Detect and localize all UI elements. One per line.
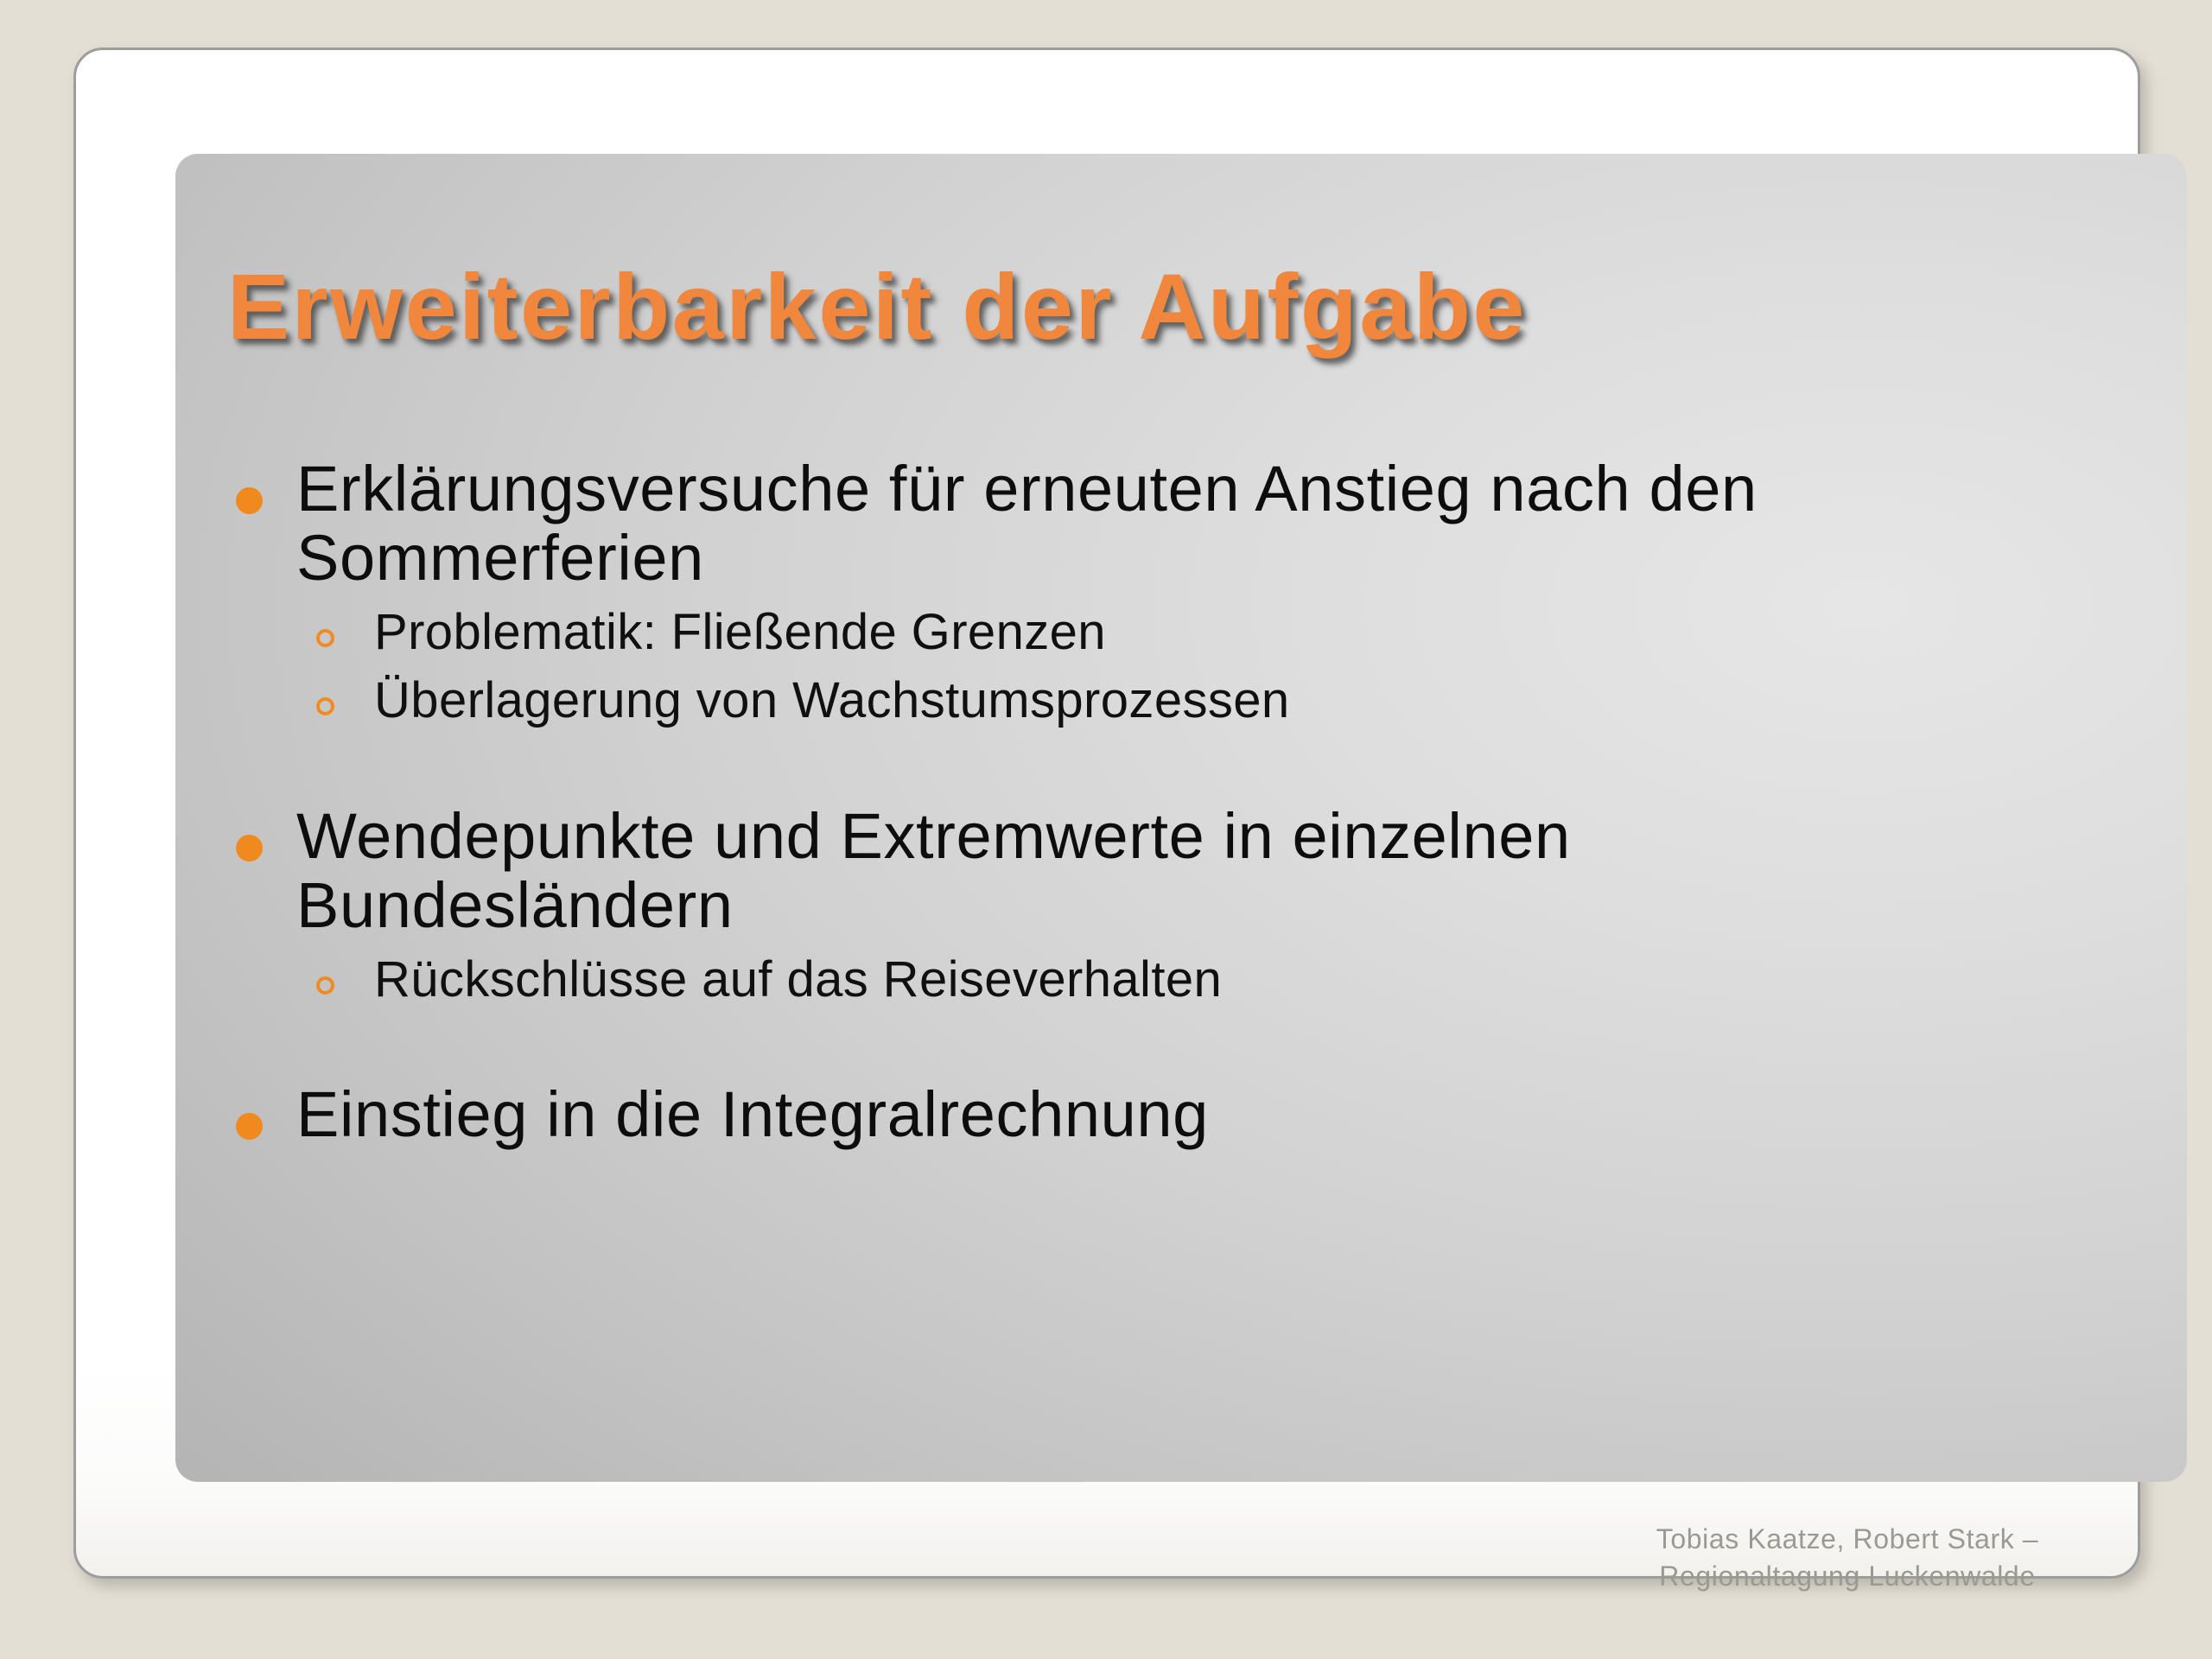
bullet-subitem-label: Rückschlüsse auf das Reiseverhalten — [374, 952, 2128, 1008]
bullet-ring-icon — [316, 976, 334, 995]
bullet-item-level1: Erklärungsversuche für erneuten Anstieg … — [227, 454, 2128, 593]
bullet-ring-icon — [316, 697, 334, 715]
bullet-block: Einstieg in die Integralrechnung — [227, 1080, 2128, 1149]
bullet-item-level1: Einstieg in die Integralrechnung — [227, 1080, 2128, 1149]
bullet-block: Erklärungsversuche für erneuten Anstieg … — [227, 454, 2128, 729]
footer-authors: Tobias Kaatze, Robert Stark – — [1571, 1521, 2124, 1558]
bullet-dot-icon — [236, 1113, 263, 1140]
bullet-dot-icon — [236, 835, 263, 861]
slide-frame: Erweiterbarkeit der Aufgabe Erklärungsve… — [73, 48, 2140, 1579]
bullet-block: Wendepunkte und Extremwerte in einzelnen… — [227, 802, 2128, 1008]
page-title: Erweiterbarkeit der Aufgabe — [227, 252, 1527, 360]
bullet-subitem-label: Überlagerung von Wachstumsprozessen — [374, 673, 2128, 729]
bullet-item-level2: Rückschlüsse auf das Reiseverhalten — [227, 952, 2128, 1008]
footer-event: Regionaltagung Luckenwalde — [1571, 1558, 2124, 1595]
bullet-ring-icon — [316, 629, 334, 647]
bullet-dot-icon — [236, 487, 263, 514]
bullet-item-level1: Wendepunkte und Extremwerte in einzelnen… — [227, 802, 2128, 940]
bullet-item-level2: Überlagerung von Wachstumsprozessen — [227, 673, 2128, 729]
slide-footer: Tobias Kaatze, Robert Stark – Regionalta… — [1571, 1521, 2124, 1595]
bullet-subitem-label: Problematik: Fließende Grenzen — [374, 605, 2128, 661]
bullet-item-label: Wendepunkte und Extremwerte in einzelnen… — [296, 802, 1981, 940]
slide-body: Erklärungsversuche für erneuten Anstieg … — [227, 454, 2128, 1153]
bullet-item-label: Einstieg in die Integralrechnung — [296, 1080, 1981, 1149]
bullet-item-label: Erklärungsversuche für erneuten Anstieg … — [296, 454, 1981, 593]
bullet-item-level2: Problematik: Fließende Grenzen — [227, 605, 2128, 661]
